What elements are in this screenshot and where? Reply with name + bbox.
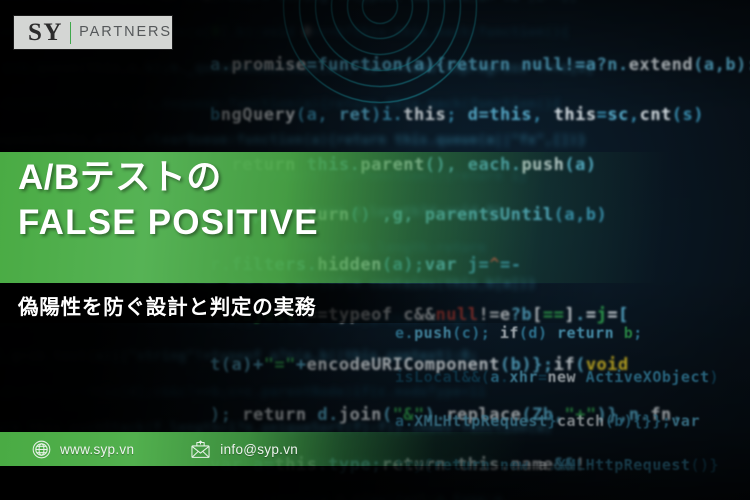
logo-primary-text: SY bbox=[14, 20, 63, 45]
footer-contact-group: www.syp.vn info@syp.vn bbox=[32, 432, 298, 466]
banner-canvas: n.queue=function(a,b){var c=2;return"str… bbox=[0, 0, 750, 500]
envelope-icon bbox=[190, 440, 211, 459]
brand-logo: SY PARTNERS bbox=[14, 16, 172, 49]
website-text: www.syp.vn bbox=[60, 442, 134, 457]
subtitle-text: 偽陽性を防ぐ設計と判定の実務 bbox=[18, 290, 316, 320]
title-line-1: A/Bテストの bbox=[18, 158, 578, 199]
globe-icon bbox=[32, 440, 51, 459]
title-block: A/Bテストの FALSE POSITIVE bbox=[18, 158, 578, 243]
bottom-dark-strip bbox=[0, 466, 750, 500]
contact-email[interactable]: info@syp.vn bbox=[190, 440, 298, 459]
contact-website[interactable]: www.syp.vn bbox=[32, 440, 134, 459]
email-text: info@syp.vn bbox=[220, 442, 298, 457]
title-line-2: FALSE POSITIVE bbox=[18, 203, 578, 244]
logo-secondary-text: PARTNERS bbox=[79, 25, 172, 40]
